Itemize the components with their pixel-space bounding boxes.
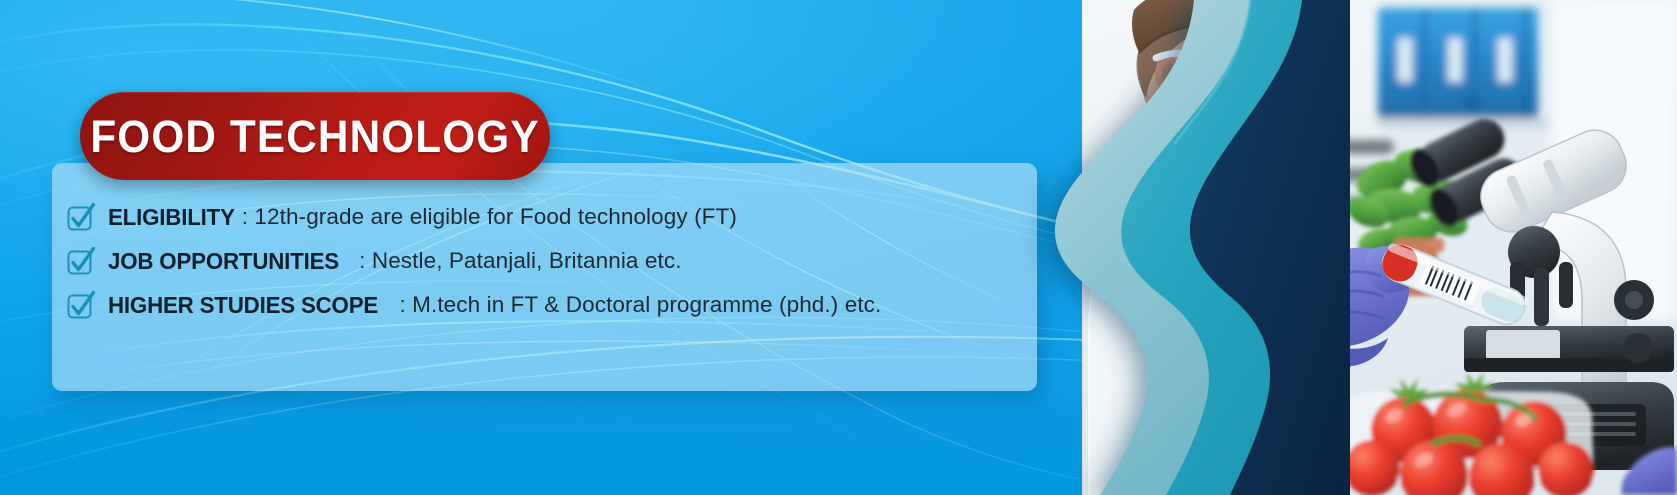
title-pill: FOOD TECHNOLOGY <box>80 92 550 180</box>
food-technology-banner: FOOD TECHNOLOGY ELIGIBILITY : 12th-grade… <box>0 0 1677 495</box>
list-item-detail: : Nestle, Patanjali, Britannia etc. <box>359 248 681 274</box>
checkbox-checked-icon <box>66 291 96 321</box>
lab-scientist-photo <box>1082 0 1677 495</box>
list-item-label: HIGHER STUDIES SCOPE <box>108 292 378 319</box>
checkbox-checked-icon <box>66 203 96 233</box>
list-item: JOB OPPORTUNITIES : Nestle, Patanjali, B… <box>66 240 1066 282</box>
list-item: ELIGIBILITY : 12th-grade are eligible fo… <box>66 196 1066 238</box>
list-item-detail: : M.tech in FT & Doctoral programme (phd… <box>399 292 881 318</box>
list-item-label: JOB OPPORTUNITIES <box>108 248 339 275</box>
list-item: HIGHER STUDIES SCOPE : M.tech in FT & Do… <box>66 284 1066 326</box>
page-title: FOOD TECHNOLOGY <box>90 114 539 159</box>
checkbox-checked-icon <box>66 247 96 277</box>
bullet-list: ELIGIBILITY : 12th-grade are eligible fo… <box>66 196 1066 328</box>
list-item-label: ELIGIBILITY <box>108 204 235 231</box>
list-item-detail: : 12th-grade are eligible for Food techn… <box>242 204 737 230</box>
